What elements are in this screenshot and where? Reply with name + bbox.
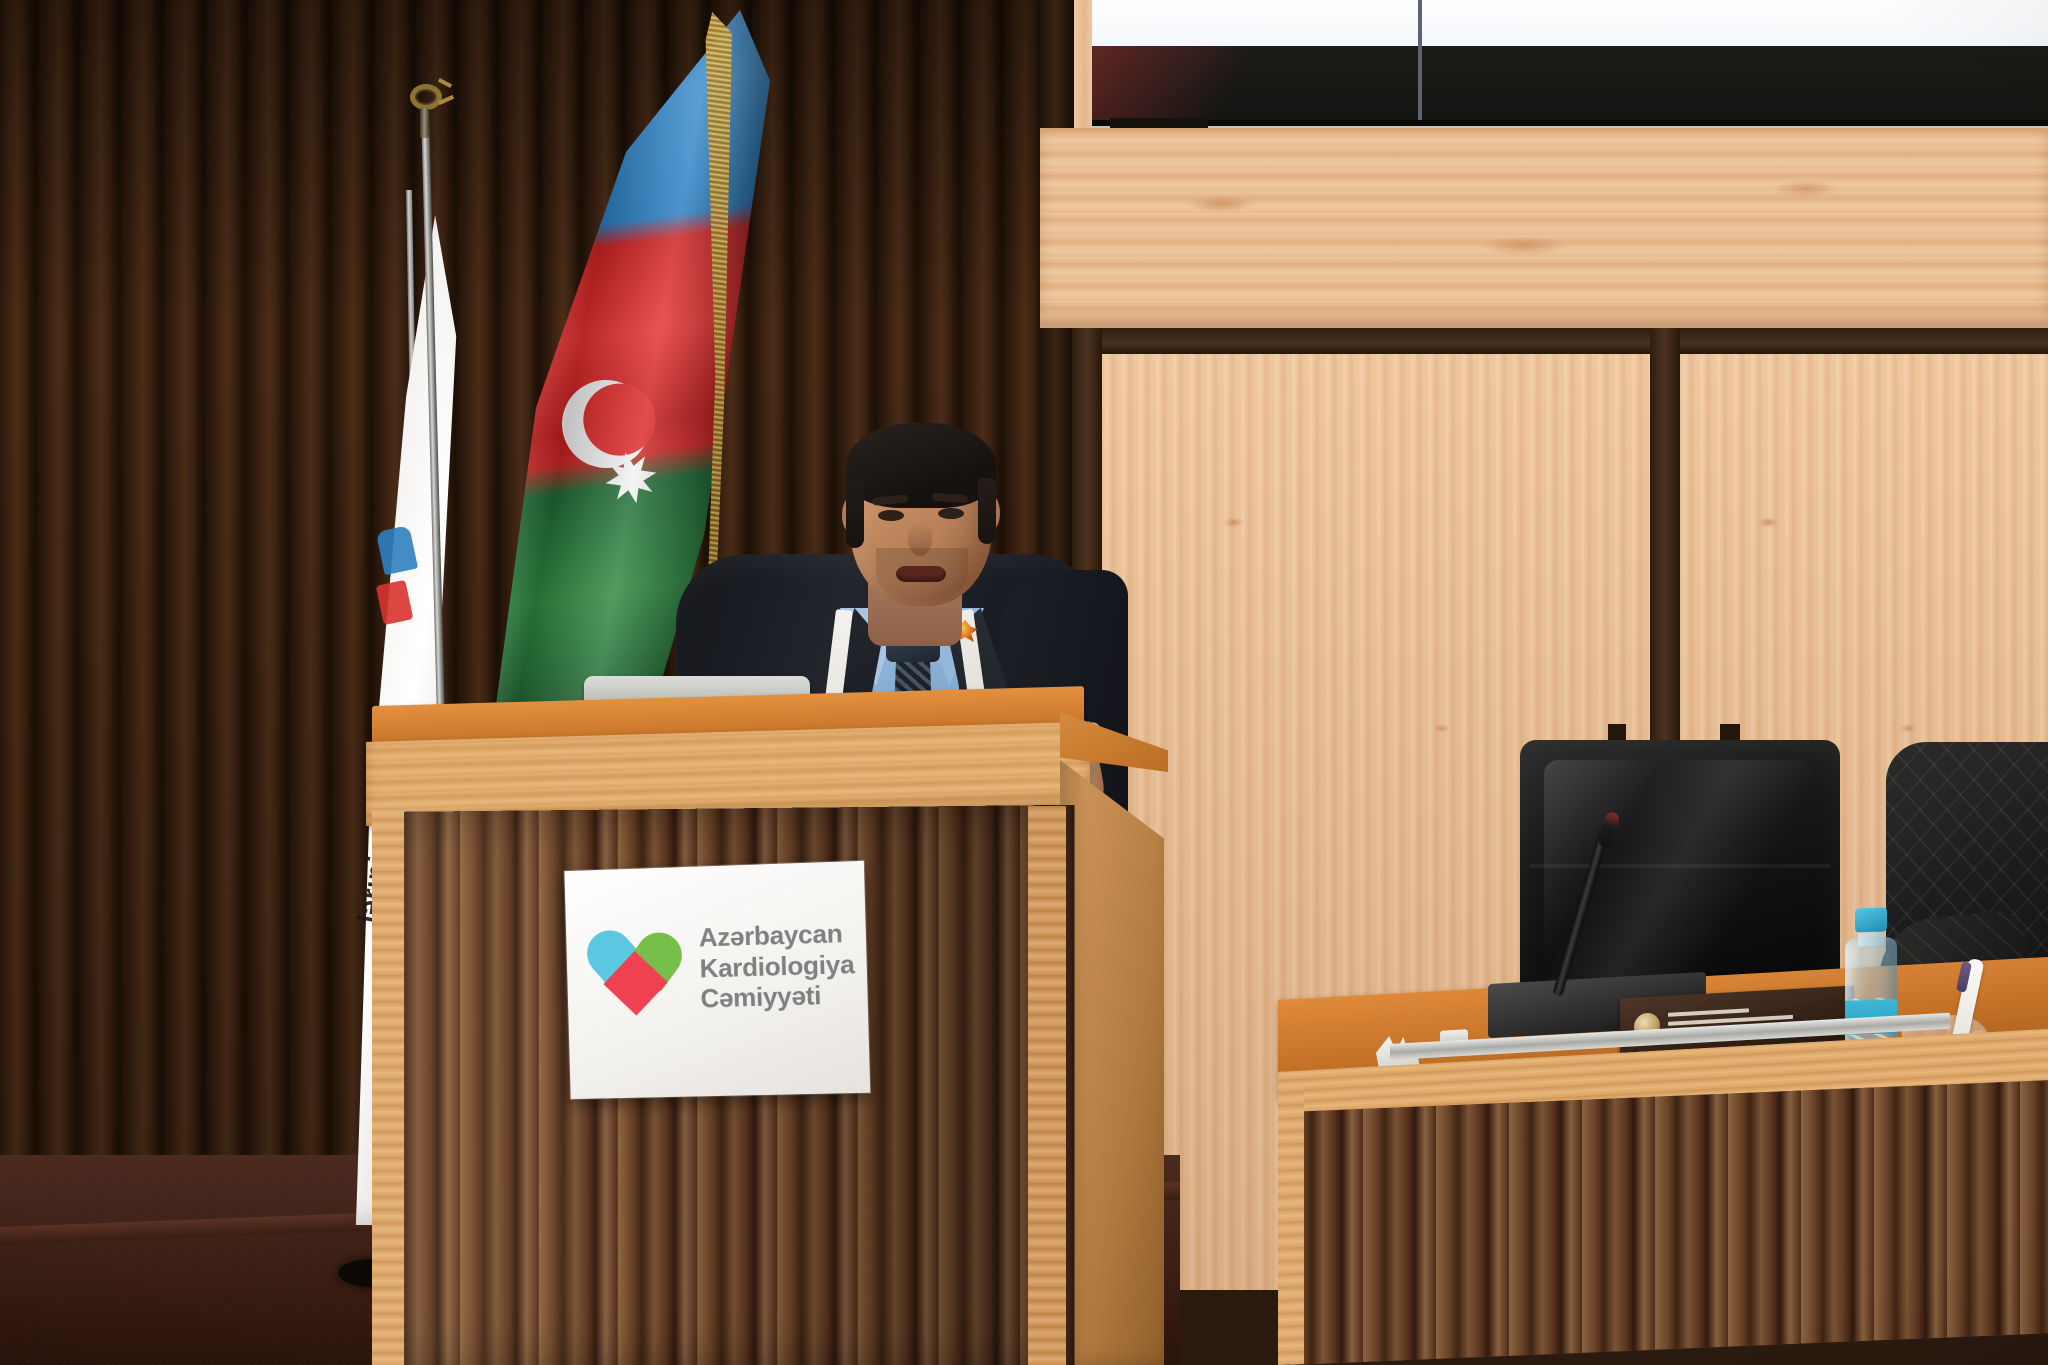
display-lens-flare <box>1092 46 1282 120</box>
speaker-eye-right <box>938 508 964 519</box>
pine-frame-top-rail <box>1072 328 2048 354</box>
podium-logo-sign: Azərbaycan Kardiologiya Cəmiyyəti <box>564 861 870 1099</box>
podium-left-edge <box>372 808 404 1365</box>
sign-line-2: Kardiologiya <box>699 949 855 984</box>
nameplate-text-line <box>1668 1008 1749 1017</box>
table-left-edge <box>1278 1087 1304 1365</box>
pine-header-beam <box>1040 128 2048 328</box>
display-bright-area <box>1092 0 2048 46</box>
white-flag-emblem-blue <box>376 525 418 575</box>
display-panel-seam <box>1418 0 1422 120</box>
conference-photo-scene: lərini <box>0 0 2048 1365</box>
speaker-sideburn-right <box>978 478 996 544</box>
speaker-sideburn-left <box>846 478 864 548</box>
chair-leather-sheen <box>1544 760 1814 990</box>
speaker-hair <box>846 422 996 508</box>
white-flag-emblem <box>368 518 432 642</box>
azerbaycan-kardiologiya-cemiyyeti-heart-logo-icon <box>589 921 686 1009</box>
podium-right-side <box>1060 760 1164 1365</box>
crescent-finial-icon <box>404 78 448 120</box>
speaker-mouth <box>896 566 946 582</box>
table-front-panel <box>1290 1080 2048 1365</box>
wall-mounted-display <box>1092 0 2048 130</box>
finial-stem <box>420 108 429 138</box>
white-flag-emblem-red <box>376 580 414 625</box>
sign-line-1: Azərbaycan <box>698 918 854 953</box>
finial-ring <box>410 84 442 110</box>
sign-line-3: Cəmiyyəti <box>700 979 856 1014</box>
podium-sign-text: Azərbaycan Kardiologiya Cəmiyyəti <box>698 916 855 1015</box>
podium-right-edge <box>1028 806 1066 1365</box>
speaker-eye-left <box>878 510 904 521</box>
water-bottle-cap[interactable] <box>1855 907 1887 932</box>
